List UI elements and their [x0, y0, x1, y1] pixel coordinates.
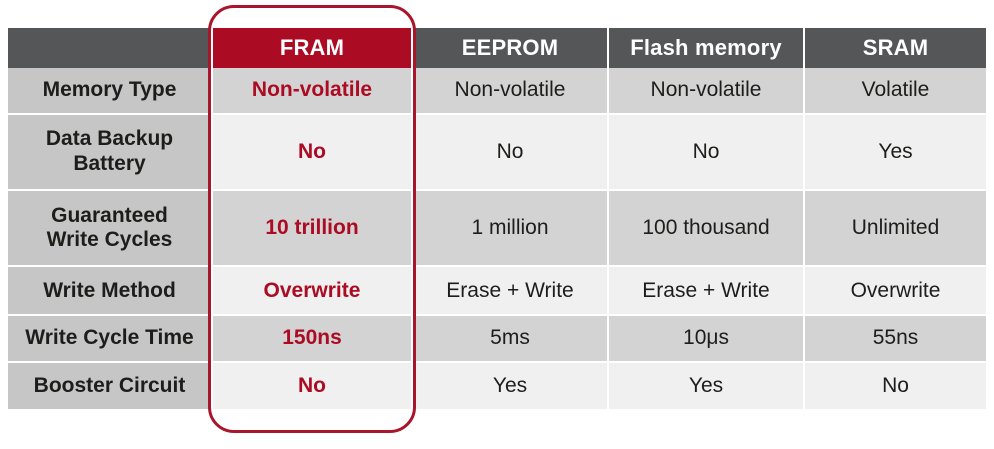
cell-sram-write-cycle-time: 55ns	[804, 315, 986, 362]
cell-fram-write-method: Overwrite	[212, 266, 412, 315]
header-cell-blank	[8, 28, 212, 68]
table-row: Write Method Overwrite Erase + Write Era…	[8, 266, 986, 315]
memory-comparison-table-wrapper: FRAM EEPROM Flash memory SRAM Memory Typ…	[8, 28, 986, 409]
row-label-line-1: Guaranteed	[14, 204, 205, 229]
header-cell-eeprom: EEPROM	[412, 28, 608, 68]
row-label-line-2: Battery	[14, 152, 205, 177]
cell-flash-data-backup-battery: No	[608, 114, 804, 190]
cell-fram-data-backup-battery: No	[212, 114, 412, 190]
table-row: Data Backup Battery No No No Yes	[8, 114, 986, 190]
cell-sram-booster-circuit: No	[804, 362, 986, 409]
row-label-data-backup-battery: Data Backup Battery	[8, 114, 212, 190]
table-row: Write Cycle Time 150ns 5ms 10μs 55ns	[8, 315, 986, 362]
row-label-booster-circuit: Booster Circuit	[8, 362, 212, 409]
cell-eeprom-booster-circuit: Yes	[412, 362, 608, 409]
cell-eeprom-guaranteed-write-cycles: 1 million	[412, 190, 608, 266]
cell-flash-guaranteed-write-cycles: 100 thousand	[608, 190, 804, 266]
cell-fram-memory-type: Non-volatile	[212, 68, 412, 114]
table-row: Guaranteed Write Cycles 10 trillion 1 mi…	[8, 190, 986, 266]
header-cell-fram: FRAM	[212, 28, 412, 68]
cell-fram-write-cycle-time: 150ns	[212, 315, 412, 362]
cell-flash-booster-circuit: Yes	[608, 362, 804, 409]
row-label-line-1: Data Backup	[14, 127, 205, 152]
memory-comparison-table: FRAM EEPROM Flash memory SRAM Memory Typ…	[8, 28, 986, 409]
table-header: FRAM EEPROM Flash memory SRAM	[8, 28, 986, 68]
cell-sram-write-method: Overwrite	[804, 266, 986, 315]
row-label-guaranteed-write-cycles: Guaranteed Write Cycles	[8, 190, 212, 266]
cell-eeprom-data-backup-battery: No	[412, 114, 608, 190]
cell-flash-write-cycle-time: 10μs	[608, 315, 804, 362]
cell-eeprom-memory-type: Non-volatile	[412, 68, 608, 114]
row-label-line-2: Write Cycles	[14, 228, 205, 253]
header-cell-flash-memory: Flash memory	[608, 28, 804, 68]
table-header-row: FRAM EEPROM Flash memory SRAM	[8, 28, 986, 68]
cell-sram-guaranteed-write-cycles: Unlimited	[804, 190, 986, 266]
row-label-write-method: Write Method	[8, 266, 212, 315]
cell-eeprom-write-method: Erase + Write	[412, 266, 608, 315]
row-label-write-cycle-time: Write Cycle Time	[8, 315, 212, 362]
cell-flash-write-method: Erase + Write	[608, 266, 804, 315]
header-cell-sram: SRAM	[804, 28, 986, 68]
table-row: Booster Circuit No Yes Yes No	[8, 362, 986, 409]
cell-sram-memory-type: Volatile	[804, 68, 986, 114]
cell-sram-data-backup-battery: Yes	[804, 114, 986, 190]
row-label-memory-type: Memory Type	[8, 68, 212, 114]
table-row: Memory Type Non-volatile Non-volatile No…	[8, 68, 986, 114]
cell-eeprom-write-cycle-time: 5ms	[412, 315, 608, 362]
cell-fram-guaranteed-write-cycles: 10 trillion	[212, 190, 412, 266]
cell-fram-booster-circuit: No	[212, 362, 412, 409]
cell-flash-memory-type: Non-volatile	[608, 68, 804, 114]
table-body: Memory Type Non-volatile Non-volatile No…	[8, 68, 986, 409]
